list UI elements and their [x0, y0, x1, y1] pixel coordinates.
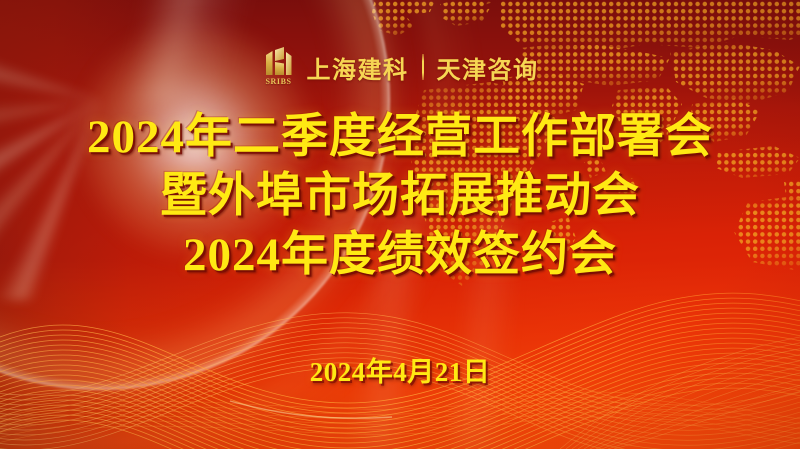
- event-date: 2024年4月21日: [0, 350, 800, 389]
- brand-name-group: 上海建科 天津咨询: [307, 50, 539, 85]
- brand-name-divider: [422, 54, 424, 80]
- poster-canvas: SRIBS 上海建科 天津咨询 2024年二季度经营工作部署会 暨外埠市场拓展推…: [0, 0, 800, 449]
- poster-title: 2024年二季度经营工作部署会 暨外埠市场拓展推动会 2024年度绩效签约会: [0, 114, 800, 279]
- title-line-3: 2024年度绩效签约会: [0, 232, 800, 279]
- brand-name-secondary: 天津咨询: [437, 50, 539, 85]
- title-line-1: 2024年二季度经营工作部署会: [0, 114, 800, 161]
- sribs-building-logo-icon: SRIBS: [262, 46, 296, 88]
- logo-abbreviation: SRIBS: [265, 78, 291, 86]
- brand-name-primary: 上海建科: [307, 50, 409, 85]
- title-line-2: 暨外埠市场拓展推动会: [0, 173, 800, 220]
- brand-logo-bar: SRIBS 上海建科 天津咨询: [0, 46, 800, 88]
